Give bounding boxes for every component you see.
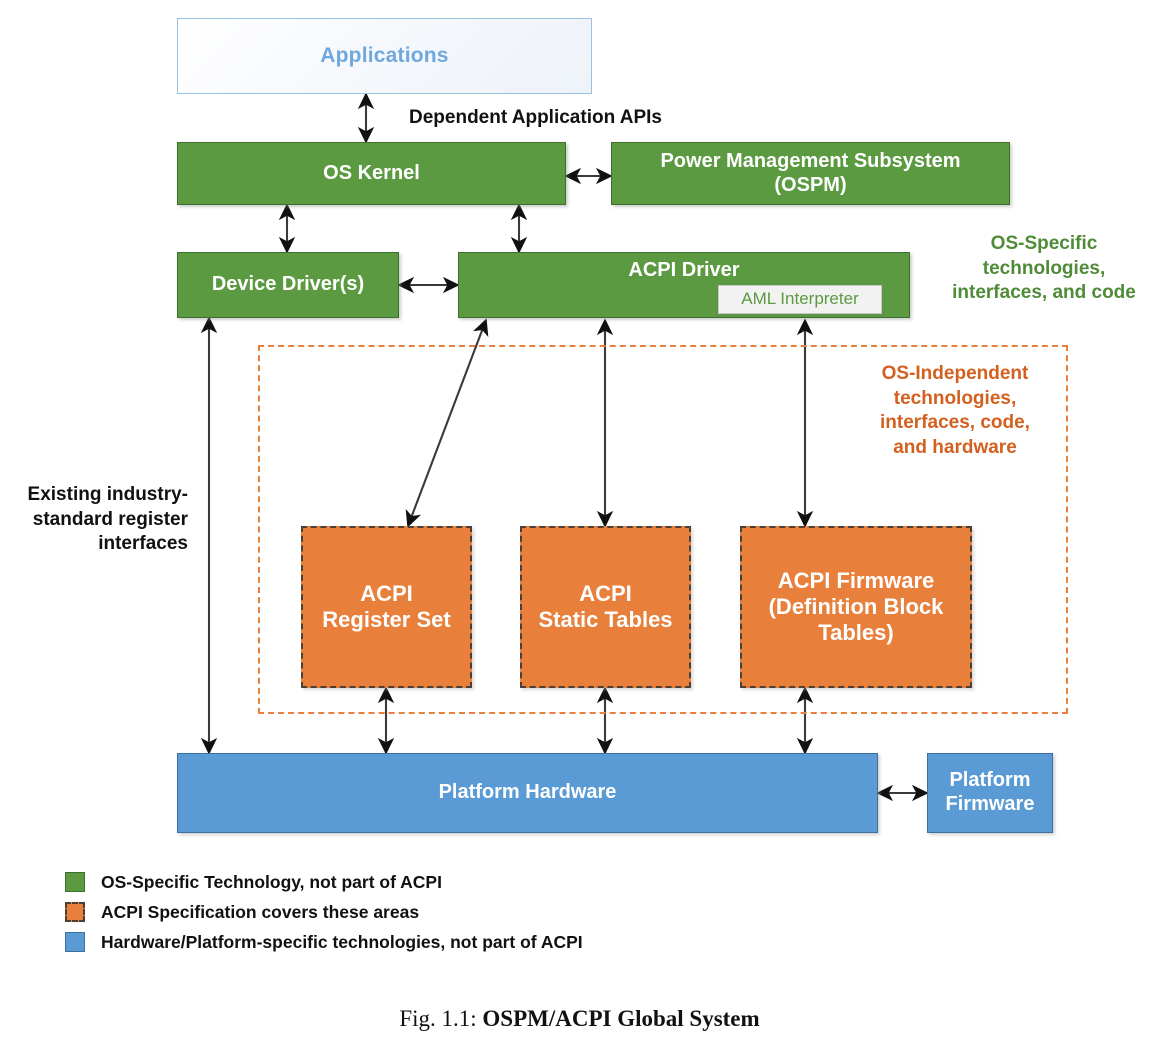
box-device-driver-label: Device Driver(s) <box>212 273 364 297</box>
figure-caption-title: OSPM/ACPI Global System <box>482 1006 759 1031</box>
annotation-dependent-apis-text: Dependent Application APIs <box>409 107 662 128</box>
box-os-kernel-label: OS Kernel <box>323 162 420 186</box>
figure-caption-prefix: Fig. 1.1: <box>399 1006 482 1031</box>
annotation-os-specific-line3: interfaces, and code <box>930 281 1158 306</box>
annotation-os-independent-line3: interfaces, code, <box>860 411 1050 436</box>
box-aml-interpreter-label: AML Interpreter <box>741 289 858 309</box>
annotation-existing-line1: Existing industry- <box>18 483 188 508</box>
box-power-management-subsystem[interactable]: Power Management Subsystem (OSPM) <box>611 142 1010 205</box>
legend-swatch-orange-icon <box>65 902 85 922</box>
legend-label-os-specific: OS-Specific Technology, not part of ACPI <box>101 872 442 893</box>
legend-swatch-blue-icon <box>65 932 85 952</box>
box-acpi-register-set[interactable]: ACPI Register Set <box>301 526 472 688</box>
box-platform-hardware-label: Platform Hardware <box>439 781 617 805</box>
box-acpi-static-tables-line1: ACPI <box>579 581 632 607</box>
legend-item-os-specific: OS-Specific Technology, not part of ACPI <box>65 867 583 897</box>
annotation-existing-industry-standard: Existing industry- standard register int… <box>18 483 188 557</box>
annotation-os-specific-line2: technologies, <box>930 257 1158 282</box>
box-acpi-firmware[interactable]: ACPI Firmware (Definition Block Tables) <box>740 526 972 688</box>
box-platform-firmware-line1: Platform <box>949 769 1030 793</box>
box-applications-label: Applications <box>320 44 448 69</box>
box-acpi-register-set-line2: Register Set <box>322 607 450 633</box>
box-os-kernel[interactable]: OS Kernel <box>177 142 566 205</box>
box-aml-interpreter[interactable]: AML Interpreter <box>718 285 882 314</box>
box-acpi-driver-label: ACPI Driver <box>628 259 739 283</box>
annotation-os-specific: OS-Specific technologies, interfaces, an… <box>930 232 1158 306</box>
legend-item-hardware-platform: Hardware/Platform-specific technologies,… <box>65 927 583 957</box>
box-acpi-register-set-line1: ACPI <box>360 581 413 607</box>
annotation-os-independent-line1: OS-Independent <box>860 362 1050 387</box>
figure-canvas: Applications OS Kernel Power Management … <box>0 0 1159 1050</box>
annotation-dependent-application-apis: Dependent Application APIs <box>409 106 662 131</box>
box-platform-firmware-line2: Firmware <box>946 793 1035 817</box>
box-acpi-firmware-line3: Tables) <box>818 620 893 646</box>
legend-label-hardware-platform: Hardware/Platform-specific technologies,… <box>101 932 583 953</box>
box-power-management-line2: (OSPM) <box>774 174 846 198</box>
annotation-os-independent-line2: technologies, <box>860 387 1050 412</box>
box-power-management-line1: Power Management Subsystem <box>660 150 960 174</box>
annotation-existing-line3: interfaces <box>18 532 188 557</box>
box-platform-hardware[interactable]: Platform Hardware <box>177 753 878 833</box>
box-acpi-static-tables[interactable]: ACPI Static Tables <box>520 526 691 688</box>
box-acpi-firmware-line1: ACPI Firmware <box>778 568 935 594</box>
box-platform-firmware[interactable]: Platform Firmware <box>927 753 1053 833</box>
box-device-driver[interactable]: Device Driver(s) <box>177 252 399 318</box>
annotation-os-independent: OS-Independent technologies, interfaces,… <box>860 362 1050 461</box>
box-acpi-firmware-line2: (Definition Block <box>769 594 944 620</box>
legend-label-acpi-spec: ACPI Specification covers these areas <box>101 902 419 923</box>
box-applications[interactable]: Applications <box>177 18 592 94</box>
legend-item-acpi-spec: ACPI Specification covers these areas <box>65 897 583 927</box>
annotation-existing-line2: standard register <box>18 508 188 533</box>
legend-swatch-green-icon <box>65 872 85 892</box>
figure-caption: Fig. 1.1: OSPM/ACPI Global System <box>0 1006 1159 1032</box>
annotation-os-specific-line1: OS-Specific <box>930 232 1158 257</box>
box-acpi-static-tables-line2: Static Tables <box>538 607 672 633</box>
annotation-os-independent-line4: and hardware <box>860 436 1050 461</box>
legend: OS-Specific Technology, not part of ACPI… <box>65 867 583 957</box>
